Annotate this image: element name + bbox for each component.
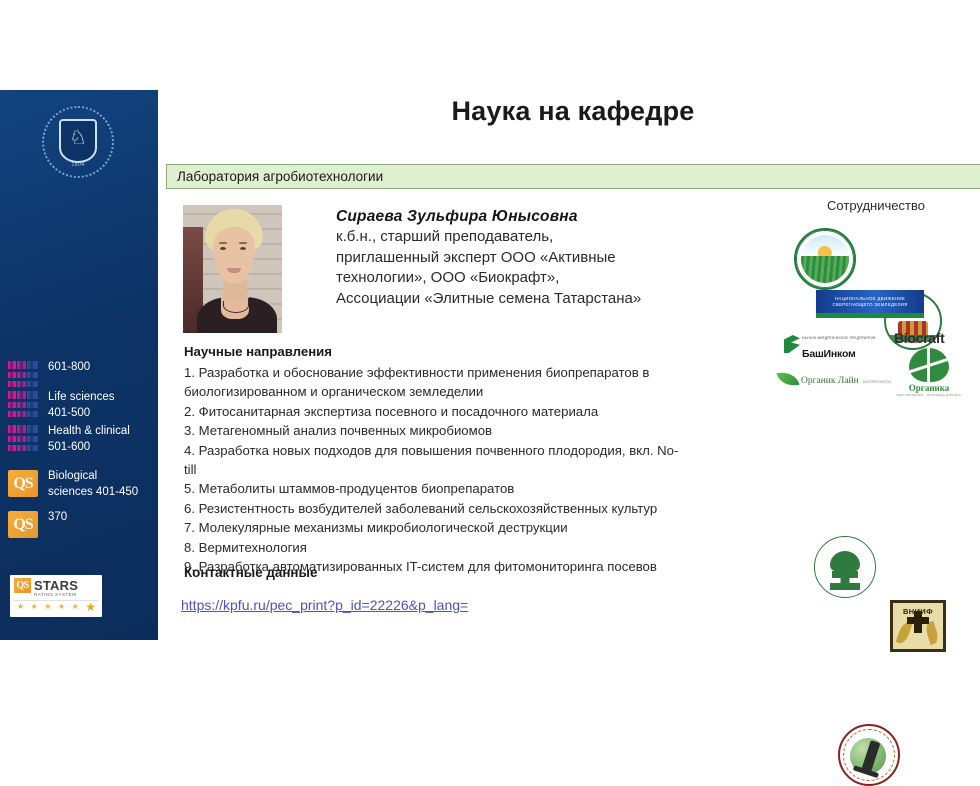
qs-badge-cell: QS — [8, 510, 44, 538]
qs-stars-top: QS STARS — [14, 578, 98, 593]
contact-link[interactable]: https://kpfu.ru/pec_print?p_id=22226&p_l… — [181, 597, 468, 613]
seal-year: 1804 — [42, 162, 114, 168]
the-badge-cell — [8, 424, 44, 451]
direction-item: 6. Резистентность возбудителей заболеван… — [184, 499, 744, 518]
organika-label: Органика — [894, 383, 964, 393]
vniif-wheat-right-icon — [924, 621, 940, 645]
direction-item: 3. Метагеномный анализ почвенных микроби… — [184, 421, 744, 440]
vniif-wheat-left-icon — [896, 621, 912, 645]
the-badge-cell — [8, 390, 44, 417]
organik-line-logo-icon: Органик Лайн БИОПРЕПАРАТЫ — [778, 370, 891, 388]
bashinkom-label: БашИнком — [802, 348, 856, 360]
qs-stars-word: STARS — [34, 578, 78, 593]
organik-leaf-icon — [777, 369, 800, 389]
national-movement-logo-icon: НАЦИОНАЛЬНОЕ ДВИЖЕНИЕ СБЕРЕГАЮЩЕГО ЗЕМЛЕ… — [816, 290, 924, 318]
emblem-cross — [832, 571, 858, 578]
left-sidebar: ♘ 1804 601-800 — [0, 90, 158, 640]
qs-stars-rating-row: ★ ★ ★ ★ ★ ★ — [14, 600, 98, 611]
directions-heading: Научные направления — [184, 344, 332, 359]
presentation-slide: ♘ 1804 601-800 — [0, 0, 980, 735]
partners-panel: Сотрудничество НАЦИОНАЛЬНОЕ ДВИЖЕНИЕ СБЕ… — [772, 198, 980, 538]
direction-item: 2. Фитосанитарная экспертиза посевного и… — [184, 402, 744, 421]
contacts-heading: Контактные данные — [184, 565, 317, 580]
qs-mini-icon: QS — [14, 578, 31, 593]
star-icon: ★ — [44, 603, 51, 611]
qs-ranking-icon: QS — [8, 511, 38, 538]
bashinkom-leaf-icon — [784, 335, 800, 353]
partners-title: Сотрудничество — [772, 198, 980, 213]
star-icon: ★ — [31, 603, 38, 611]
qs-stars-badge: QS STARS RATING SYSTEM ★ ★ ★ ★ ★ ★ — [10, 575, 102, 617]
person-info-block: Сираева Зульфира Юнысовна к.б.н., старши… — [336, 208, 766, 309]
ranking-row-qs-overall: QS 370 — [0, 510, 158, 538]
rankings-list: 601-800 Life sciences 401-500 — [0, 360, 158, 541]
person-role: к.б.н., старший преподаватель, приглашен… — [336, 227, 766, 309]
griffin-icon: ♘ — [66, 126, 90, 150]
ranking-text: Health & clinical 501-600 — [44, 424, 130, 455]
qs-badge-cell: QS — [8, 469, 44, 497]
star-icon: ★ — [58, 603, 65, 611]
organika-sub: БИО ОРГАНИКА · ОРГАНИКА ДЛЯ ВАС — [894, 393, 964, 397]
the-ranking-icon — [8, 425, 39, 451]
ranking-text: 601-800 — [44, 360, 90, 376]
photo-brow-left — [219, 242, 227, 244]
directions-list: 1. Разработка и обоснование эффективност… — [184, 363, 744, 576]
lab-banner-label: Лаборатория агробиотехнологии — [167, 169, 383, 184]
the-ranking-icon — [8, 391, 39, 417]
microbiology-emblem-icon — [838, 724, 900, 786]
direction-item: 7. Молекулярные механизмы микробиологиче… — [184, 518, 744, 537]
ranking-row-the-overall: 601-800 — [0, 360, 158, 387]
the-ranking-icon — [8, 361, 39, 387]
bashinkom-logo-icon: НАУЧНО-ВНЕДРЕНЧЕСКОЕ ПРЕДПРИЯТИЕ БашИнко… — [784, 326, 876, 362]
ranking-text: Biological sciences 401-450 — [44, 469, 138, 500]
photo-eye-right — [240, 247, 246, 250]
ranking-text: 370 — [44, 510, 67, 526]
ranking-row-the-health-clinical: Health & clinical 501-600 — [0, 424, 158, 455]
ranking-text: Life sciences 401-500 — [44, 390, 114, 421]
vniif-logo-icon: ВНИИФ — [890, 600, 946, 652]
direction-item: 1. Разработка и обоснование эффективност… — [184, 363, 744, 402]
direction-item: 5. Метаболиты штаммов-продуцентов биопре… — [184, 479, 744, 498]
emblem-ring — [796, 230, 854, 288]
photo-eye-left — [220, 247, 226, 250]
emblem-base — [830, 583, 860, 590]
star-icon: ★ — [17, 603, 24, 611]
organika-tree-icon — [909, 348, 949, 382]
vniif-cross-icon — [914, 611, 922, 633]
qs-ranking-icon: QS — [8, 470, 38, 497]
ranking-row-the-life-sciences: Life sciences 401-500 — [0, 390, 158, 421]
lab-banner: Лаборатория агробиотехнологии — [166, 164, 980, 189]
bashinkom-sub: НАУЧНО-ВНЕДРЕНЧЕСКОЕ ПРЕДПРИЯТИЕ — [802, 336, 876, 340]
kfu-seal-logo: ♘ 1804 — [42, 106, 114, 178]
page-title: Наука на кафедре — [166, 96, 980, 127]
biocraft-logo-icon: Biocraft — [894, 330, 945, 346]
person-name: Сираева Зульфира Юнысовна — [336, 208, 766, 226]
star-icon: ★ — [72, 603, 79, 611]
photo-brow-right — [239, 242, 247, 244]
organik-line-sub: БИОПРЕПАРАТЫ — [863, 380, 891, 384]
agro-medical-emblem-icon — [814, 536, 876, 598]
direction-item: 4. Разработка новых подходов для повышен… — [184, 441, 744, 480]
direction-item: 8. Вермитехнология — [184, 538, 744, 557]
field-sunrise-emblem-icon — [794, 228, 856, 290]
nat-move-line2: СБЕРЕГАЮЩЕГО ЗЕМЛЕДЕЛИЯ — [832, 302, 907, 308]
organika-logo-icon: Органика БИО ОРГАНИКА · ОРГАНИКА ДЛЯ ВАС — [894, 348, 964, 397]
ranking-row-qs-biological: QS Biological sciences 401-450 — [0, 469, 158, 500]
star-icon-highlight: ★ — [85, 603, 96, 611]
qs-stars-subtitle: RATING SYSTEM — [34, 592, 98, 597]
the-badge-cell — [8, 360, 44, 387]
organik-line-label: Органик Лайн — [801, 376, 859, 386]
person-photo — [183, 205, 282, 333]
emblem-bowl — [830, 551, 860, 571]
